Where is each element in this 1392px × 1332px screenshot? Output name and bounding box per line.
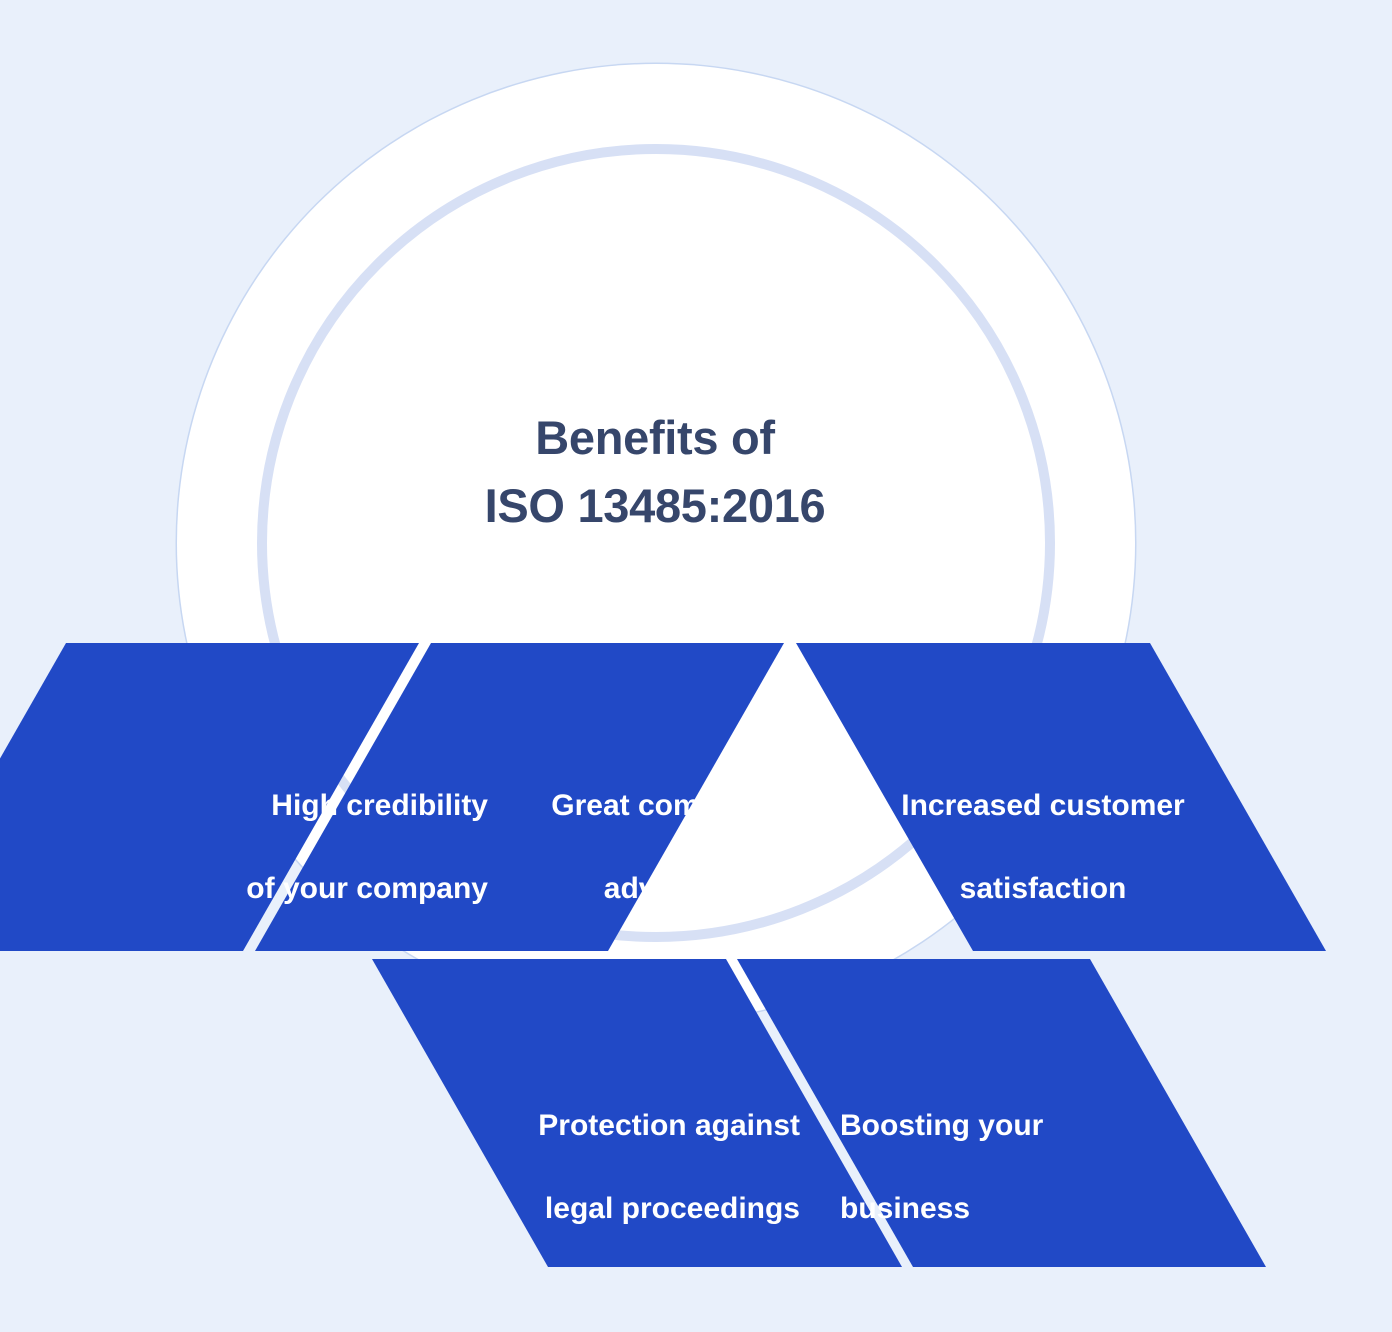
tile-label-competitive-advantage: Great competitive advantage bbox=[525, 744, 831, 910]
tile-line-2: business bbox=[840, 1192, 970, 1225]
tile-label-high-credibility: High credibility of your company bbox=[176, 744, 488, 910]
tile-line-2: satisfaction bbox=[960, 872, 1127, 905]
tile-line-1: Boosting your bbox=[840, 1109, 1043, 1142]
tile-label-customer-satisfaction: Increased customer satisfaction bbox=[878, 744, 1208, 910]
tile-line-1: Great competitive bbox=[551, 789, 804, 822]
tile-line-2: legal proceedings bbox=[545, 1192, 800, 1225]
tile-line-1: Increased customer bbox=[901, 789, 1184, 822]
tile-line-2: of your company bbox=[246, 872, 488, 905]
tile-line-1: Protection against bbox=[538, 1109, 800, 1142]
tile-line-2: advantage bbox=[604, 872, 752, 905]
benefits-infographic: Benefits of ISO 13485:2016 High credibil… bbox=[0, 0, 1392, 1332]
tile-label-boost-business: Boosting your business bbox=[840, 1064, 1100, 1230]
tile-label-legal-protection: Protection against legal proceedings bbox=[470, 1064, 800, 1230]
tile-line-1: High credibility bbox=[271, 789, 488, 822]
